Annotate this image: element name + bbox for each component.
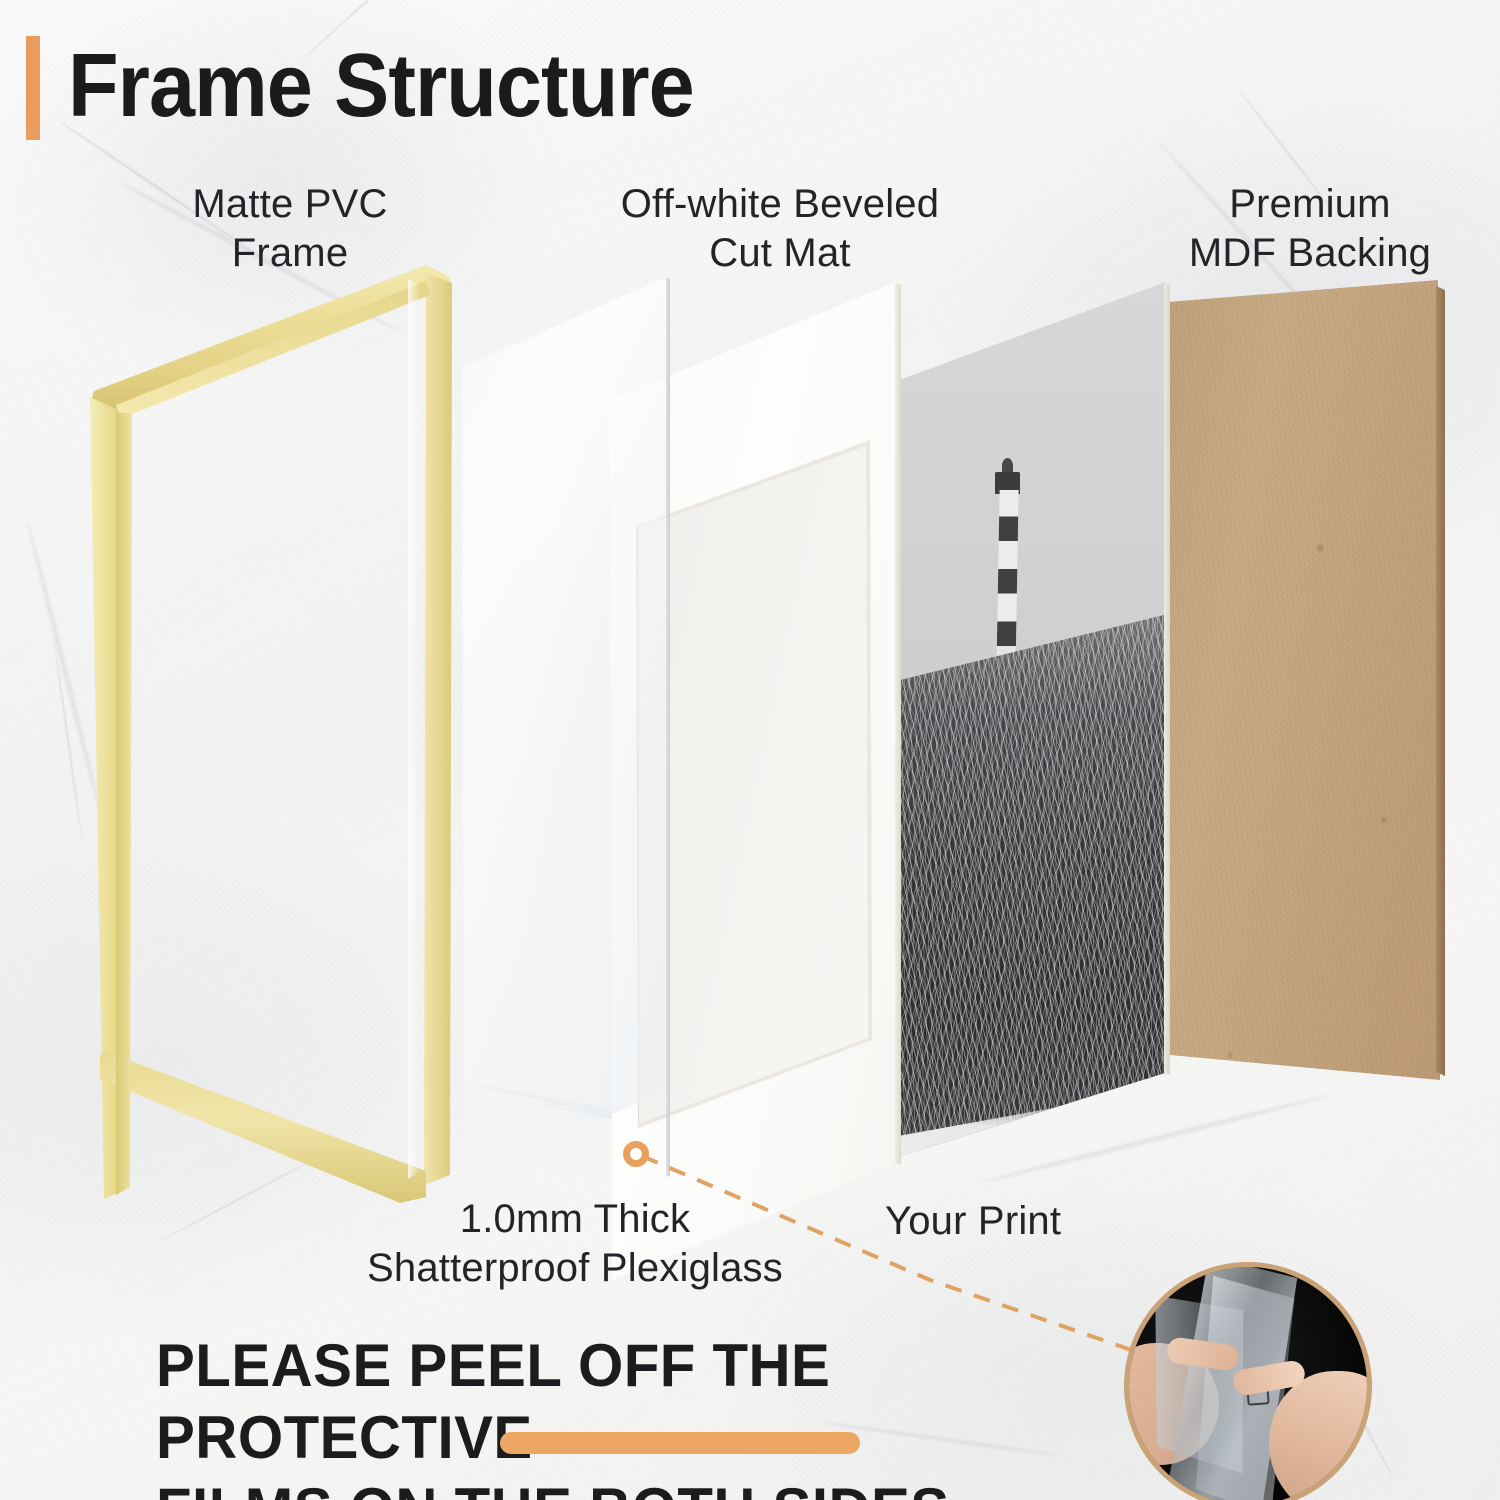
both-sides-highlight: [500, 1432, 860, 1454]
frame-rail-bottom: [100, 1051, 450, 1203]
notice-line-2: FILMS ON THE BOTH SIDES: [156, 1474, 1048, 1500]
mat-window-opening: [636, 440, 872, 1130]
label-line-2: Shatterproof Plexiglass: [260, 1244, 890, 1293]
layer-photo-print: [886, 282, 1168, 1162]
label-beveled-cut-mat: Off-white Beveled Cut Mat: [530, 180, 1030, 278]
plexiglass-sheen: [462, 276, 670, 1186]
mat-edge: [895, 283, 901, 1168]
label-premium-mdf-backing: Premium MDF Backing: [1120, 180, 1500, 278]
peel-film-inset-photo: [1124, 1262, 1372, 1500]
layer-mdf-backing: [1168, 280, 1440, 1090]
label-line-1: Matte PVC: [105, 180, 475, 229]
infographic-canvas: Frame Structure Matte PVC Fra: [0, 0, 1500, 1500]
label-line-1: 1.0mm Thick: [260, 1195, 890, 1244]
frame-highlight: [408, 279, 420, 1179]
label-line-2: Cut Mat: [530, 229, 1030, 278]
callout-marker-icon: [623, 1141, 649, 1167]
peel-notice: PLEASE PEEL OFF THE PROTECTIVE FILMS ON …: [156, 1330, 1076, 1500]
print-dune-grass: [886, 612, 1168, 1162]
label-shatterproof-plexiglass: 1.0mm Thick Shatterproof Plexiglass: [260, 1195, 890, 1293]
label-line-1: Off-white Beveled: [530, 180, 1030, 229]
label-your-print: Your Print: [885, 1197, 1155, 1246]
frame-inner-lip-left: [116, 405, 132, 1195]
page-title: Frame Structure: [68, 30, 694, 142]
label-matte-pvc-frame: Matte PVC Frame: [105, 180, 475, 278]
layer-pvc-frame: [90, 265, 450, 1195]
print-edge: [1164, 283, 1170, 1078]
plexiglass-edge: [666, 277, 670, 1180]
label-line-2: Frame: [105, 229, 475, 278]
notice-line-2-prefix: FILMS ON THE: [156, 1476, 589, 1500]
mdf-edge: [1436, 286, 1445, 1086]
mdf-fiber-texture: [1168, 280, 1440, 1090]
lighthouse-tower: [996, 490, 1018, 678]
title-accent-bar: [26, 36, 40, 140]
layer-plexiglass: [462, 276, 670, 1186]
notice-line-2-highlight: BOTH SIDES: [589, 1476, 950, 1500]
label-line-1: Your Print: [885, 1197, 1155, 1246]
label-line-1: Premium: [1120, 180, 1500, 229]
frame-rail-top: [90, 265, 450, 415]
label-line-2: MDF Backing: [1120, 229, 1500, 278]
